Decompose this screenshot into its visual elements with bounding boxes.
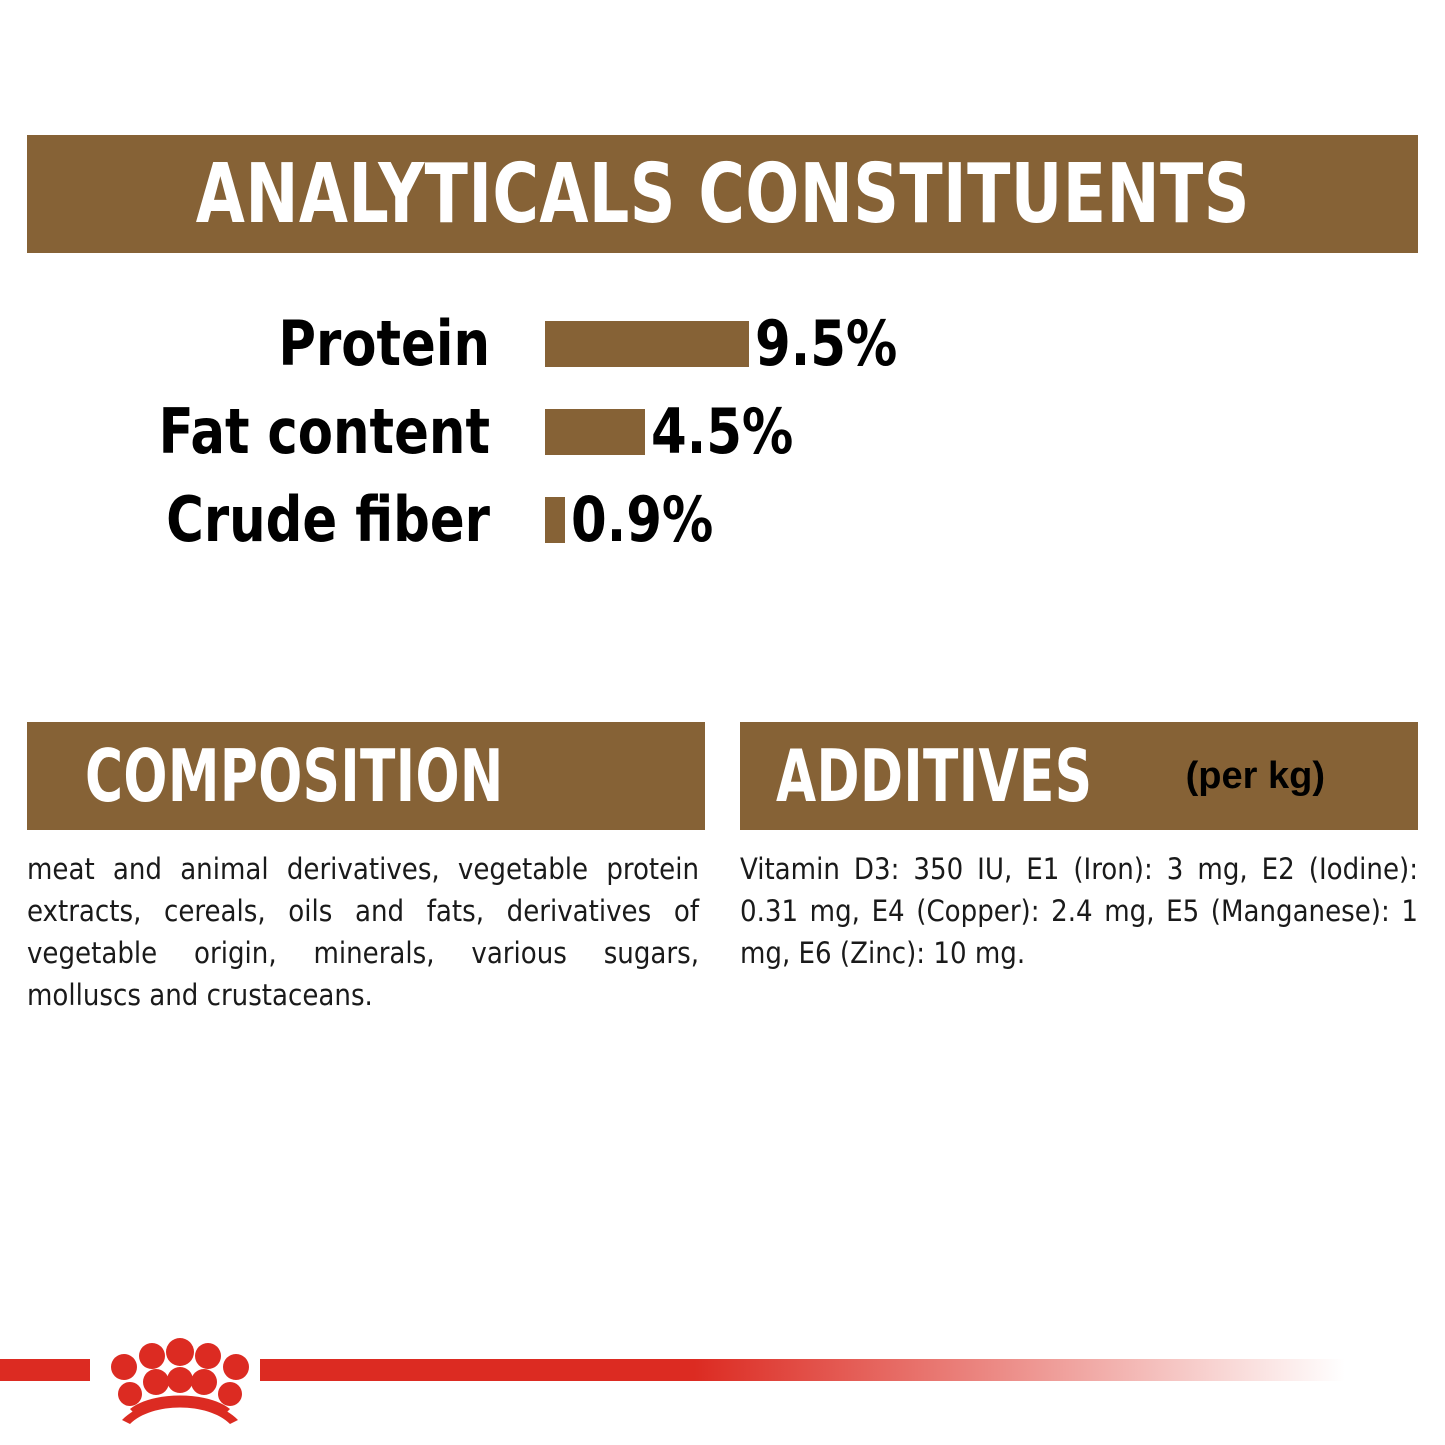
nutrient-bar-crude-fiber	[545, 497, 565, 543]
additives-header: ADDITIVES (per kg)	[740, 722, 1418, 830]
nutrient-bar-fat-content	[545, 409, 645, 455]
nutrient-bar-group-crude-fiber: 0.9%	[545, 489, 726, 551]
nutrient-value-protein: 9.5%	[755, 313, 897, 375]
footer-rule-left	[0, 1359, 90, 1381]
additives-body-text: Vitamin D3: 350 IU, E1 (Iron): 3 mg, E2 …	[740, 848, 1418, 974]
nutrient-row: Protein 9.5%	[0, 300, 1445, 388]
royal-canin-crown-icon	[100, 1325, 260, 1425]
composition-title: COMPOSITION	[85, 734, 504, 818]
analyticals-constituents-title: ANALYTICALS CONSTITUENTS	[195, 147, 1249, 242]
composition-body-text: meat and animal derivatives, vegetable p…	[27, 848, 699, 1016]
nutrient-label-crude-fiber: Crude fiber	[39, 489, 490, 551]
composition-header: COMPOSITION	[27, 722, 705, 830]
additives-per-kg-suffix: (per kg)	[1186, 755, 1325, 798]
nutrient-value-fat-content: 4.5%	[651, 401, 793, 463]
nutrient-row: Fat content 4.5%	[0, 388, 1445, 476]
additives-title: ADDITIVES	[776, 734, 1093, 818]
analyticals-constituents-chart: Protein 9.5% Fat content 4.5% Crude fibe…	[0, 300, 1445, 564]
analyticals-constituents-header: ANALYTICALS CONSTITUENTS	[27, 135, 1418, 253]
nutrient-label-fat-content: Fat content	[39, 401, 490, 463]
nutrient-bar-group-fat-content: 4.5%	[545, 401, 806, 463]
brand-footer	[0, 1325, 1445, 1445]
nutrient-row: Crude fiber 0.9%	[0, 476, 1445, 564]
footer-rule-right	[260, 1359, 1345, 1381]
nutrient-bar-protein	[545, 321, 749, 367]
nutrient-label-protein: Protein	[39, 313, 490, 375]
nutrient-bar-group-protein: 9.5%	[545, 313, 910, 375]
nutrient-value-crude-fiber: 0.9%	[571, 489, 713, 551]
